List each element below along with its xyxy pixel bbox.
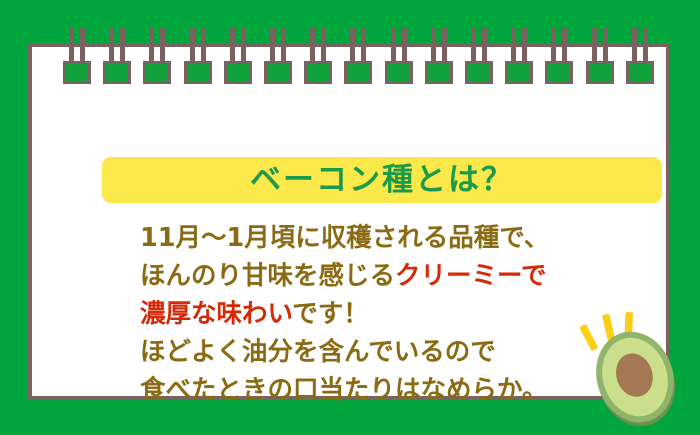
body-line: 11月〜1月頃に収穫される品種で、 [140, 219, 610, 257]
body-highlight-text: クリーミーで [395, 261, 546, 291]
body-text: 11月〜1月頃に収穫される品種で、 [140, 223, 549, 253]
body-text: ほどよく油分を含んでいるので [140, 337, 496, 367]
body-text: です！ [292, 299, 369, 329]
body-line: ほんのり甘味を感じるクリーミーで [140, 257, 610, 295]
body-text: ほんのり甘味を感じる [140, 261, 395, 291]
title-banner: ベーコン種とは？ [102, 157, 662, 203]
body-line: ほどよく油分を含んでいるので [140, 333, 610, 371]
body-text: 食べたときの口当たりはなめらか。 [140, 375, 548, 405]
avocado-illustration [567, 302, 692, 427]
notebook-card: ベーコン種とは？ 11月〜1月頃に収穫される品種で、ほんのり甘味を感じるクリーミ… [28, 43, 670, 400]
avocado-half-icon [585, 322, 687, 427]
page-title: ベーコン種とは？ [250, 165, 514, 196]
body-highlight-text: 濃厚な味わい [140, 299, 292, 329]
body-line: 食べたときの口当たりはなめらか。 [140, 371, 610, 409]
body-line: 濃厚な味わいです！ [140, 295, 610, 333]
poster-canvas: ベーコン種とは？ 11月〜1月頃に収穫される品種で、ほんのり甘味を感じるクリーミ… [0, 0, 700, 435]
body-copy: 11月〜1月頃に収穫される品種で、ほんのり甘味を感じるクリーミーで濃厚な味わいで… [140, 219, 610, 409]
